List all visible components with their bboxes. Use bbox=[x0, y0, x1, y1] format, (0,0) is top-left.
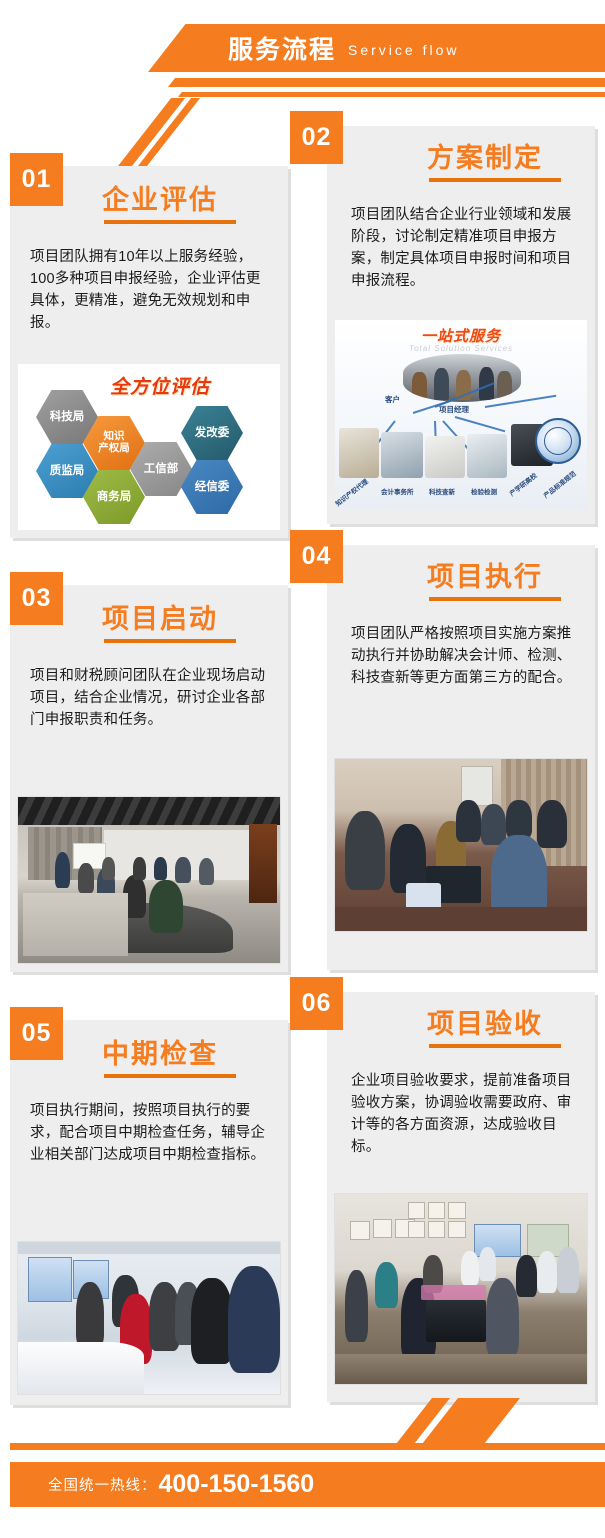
onestop-subtitle: Total Solution Services bbox=[335, 344, 587, 353]
card-06-title-rule bbox=[429, 1044, 561, 1048]
onestop-node-search bbox=[425, 436, 465, 478]
card-02-title-rule bbox=[429, 178, 561, 182]
onestop-label-ip: 知识产权代理 bbox=[335, 476, 370, 508]
onestop-label-testing: 检验检测 bbox=[471, 486, 497, 496]
card-01-badge: 01 bbox=[10, 153, 63, 206]
card-04-title: 项目执行 bbox=[427, 555, 543, 594]
onestop-label-standard: 产品标准规范 bbox=[541, 468, 578, 500]
card-06-title: 项目验收 bbox=[427, 1002, 543, 1041]
page-subtitle: Service flow bbox=[348, 43, 459, 58]
card-05-body: 项目执行期间，按照项目执行的要求，配合项目中期检查任务，辅导企业相关部门达成项目… bbox=[30, 1100, 270, 1166]
card-01[interactable]: 01 企业评估 项目团队拥有10年以上服务经验，100多种项目申报经验，企业评估… bbox=[10, 166, 288, 538]
card-02[interactable]: 02 方案制定 项目团队结合企业行业领域和发展阶段，讨论制定精准项目申报方案，制… bbox=[327, 126, 595, 524]
hex-node-fagaiwei: 发改委 bbox=[181, 406, 243, 460]
onestop-diagram: 一站式服务 Total Solution Services 客户 项目经理 bbox=[335, 320, 587, 510]
card-01-body: 项目团队拥有10年以上服务经验，100多种项目申报经验，企业评估更具体，更精准，… bbox=[30, 246, 270, 334]
card-05-badge: 05 bbox=[10, 1007, 63, 1060]
card-03-title-rule bbox=[104, 639, 236, 643]
card-03-badge: 03 bbox=[10, 572, 63, 625]
onestop-node-standard-seal bbox=[535, 418, 581, 464]
card-01-title: 企业评估 bbox=[102, 178, 218, 217]
card-03-body: 项目和财税顾问团队在企业现场启动项目，结合企业情况，研讨企业各部门申报职责和任务… bbox=[30, 665, 270, 731]
header-stripe-thick bbox=[168, 78, 605, 87]
card-06[interactable]: 06 项目验收 企业项目验收要求，提前准备项目验收方案，协调验收需要政府、审计等… bbox=[327, 992, 595, 1402]
page-title: 服务流程 bbox=[228, 38, 336, 63]
page-header: 服务流程 Service flow bbox=[0, 0, 605, 120]
onestop-client-label: 客户 bbox=[385, 394, 400, 405]
footer-phone-number[interactable]: 400-150-1560 bbox=[159, 1470, 315, 1499]
card-03[interactable]: 03 项目启动 项目和财税顾问团队在企业现场启动项目，结合企业情况，研讨企业各部… bbox=[10, 585, 288, 972]
onestop-node-ip bbox=[339, 428, 379, 478]
onestop-node-testing bbox=[467, 434, 507, 478]
photo-office-meeting bbox=[335, 759, 587, 931]
card-02-body: 项目团队结合企业行业领域和发展阶段，讨论制定精准项目申报方案，制定具体项目申报时… bbox=[351, 204, 577, 292]
card-06-body: 企业项目验收要求，提前准备项目验收方案，协调验收需要政府、审计等的各方面资源，达… bbox=[351, 1070, 577, 1158]
card-04-badge: 04 bbox=[290, 530, 343, 583]
onestop-title: 一站式服务 bbox=[335, 325, 587, 346]
hex-diagram-title: 全方位评估 bbox=[110, 372, 210, 399]
card-04[interactable]: 04 项目执行 项目团队严格按照项目实施方案推动执行并协助解决会计师、检测、科技… bbox=[327, 545, 595, 970]
card-03-title: 项目启动 bbox=[102, 597, 218, 636]
footer-top-line bbox=[10, 1443, 605, 1450]
onestop-label-university: 产学研高校 bbox=[507, 470, 539, 498]
photo-showroom-visit bbox=[18, 1242, 280, 1394]
card-02-badge: 02 bbox=[290, 111, 343, 164]
onestop-label-search: 科技查新 bbox=[429, 486, 455, 496]
footer-hotline-label: 全国统一热线： bbox=[48, 1474, 157, 1495]
onestop-label-accounting: 会计事务所 bbox=[381, 486, 414, 496]
card-06-badge: 06 bbox=[290, 977, 343, 1030]
card-02-title: 方案制定 bbox=[427, 136, 543, 175]
onestop-arrow-2 bbox=[455, 416, 506, 432]
card-05[interactable]: 05 中期检查 项目执行期间，按照项目执行的要求，配合项目中期检查任务，辅导企业… bbox=[10, 1020, 288, 1405]
header-title-group: 服务流程 Service flow bbox=[228, 30, 605, 70]
card-05-title: 中期检查 bbox=[102, 1032, 218, 1071]
onestop-node-accounting bbox=[381, 432, 423, 478]
hex-diagram: 全方位评估 科技局 知识 产权局 发改委 质监局 工信部 商务局 经信委 bbox=[18, 364, 280, 530]
onestop-center-label: 项目经理 bbox=[439, 404, 469, 415]
card-04-title-rule bbox=[429, 597, 561, 601]
card-01-title-rule bbox=[104, 220, 236, 224]
footer-hotline: 全国统一热线： 400-150-1560 bbox=[48, 1462, 314, 1507]
service-flow-infographic: 服务流程 Service flow 01 企业评估 项目团队拥有10年以上服务经… bbox=[0, 0, 605, 1538]
card-05-title-rule bbox=[104, 1074, 236, 1078]
photo-conference-room bbox=[18, 797, 280, 963]
card-04-body: 项目团队严格按照项目实施方案推动执行并协助解决会计师、检测、科技查新等更方面第三… bbox=[351, 623, 577, 689]
header-stripe-thin bbox=[178, 92, 605, 97]
photo-large-meeting bbox=[335, 1194, 587, 1384]
